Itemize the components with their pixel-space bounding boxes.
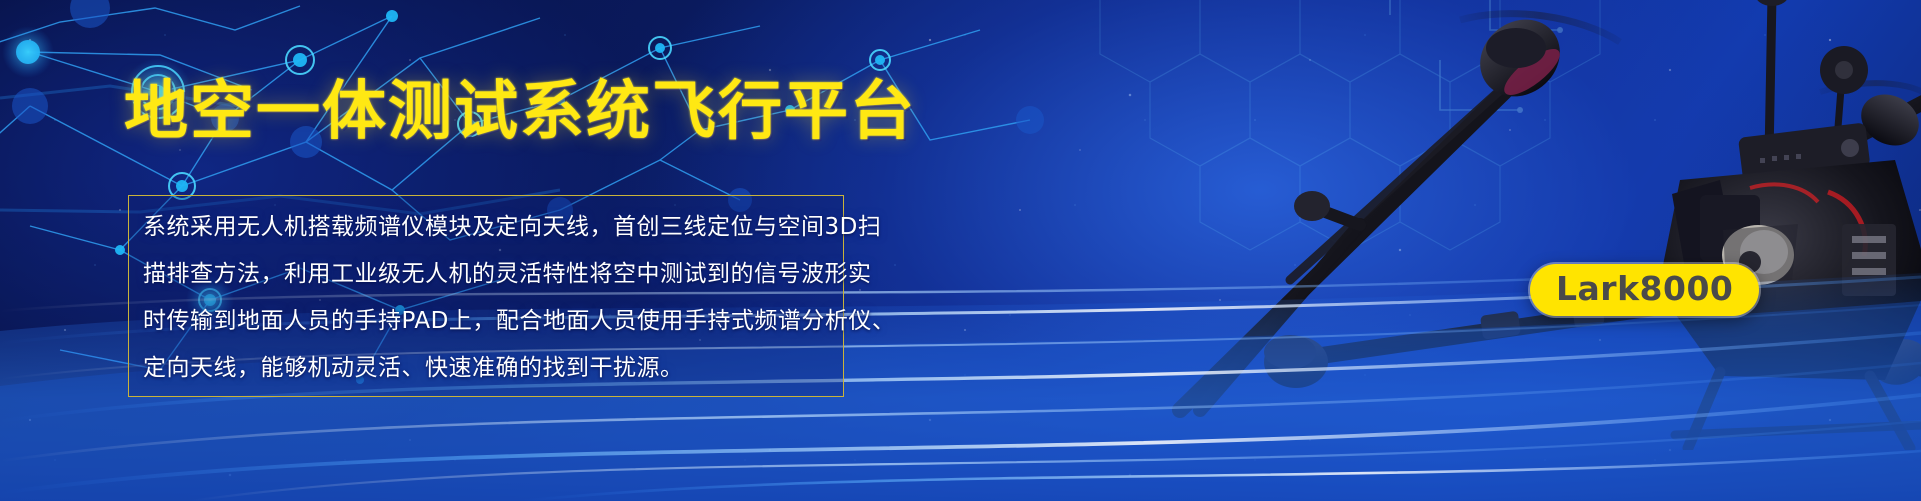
description-line: 时传输到地面人员的手持PAD上，配合地面人员使用手持式频谱分析仪、 [143, 298, 827, 345]
page-title: 地空一体测试系统飞行平台 [124, 77, 916, 147]
description-line: 描排查方法，利用工业级无人机的灵活特性将空中测试到的信号波形实 [143, 251, 827, 298]
description-box: 系统采用无人机搭载频谱仪模块及定向天线，首创三线定位与空间3D扫 描排查方法，利… [128, 195, 844, 397]
product-model-badge: Lark8000 [1530, 264, 1759, 316]
description-line: 定向天线，能够机动灵活、快速准确的找到干扰源。 [143, 345, 827, 392]
product-banner: 地空一体测试系统飞行平台 系统采用无人机搭载频谱仪模块及定向天线，首创三线定位与… [0, 0, 1921, 501]
description-line: 系统采用无人机搭载频谱仪模块及定向天线，首创三线定位与空间3D扫 [143, 204, 827, 251]
